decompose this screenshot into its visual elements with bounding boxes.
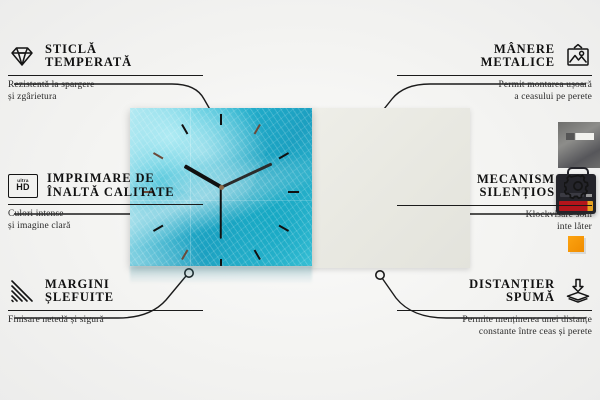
feature-title: DISTANȚIER SPUMĂ bbox=[469, 278, 555, 305]
ultra-hd-icon-main: HD bbox=[16, 183, 29, 192]
divider bbox=[8, 204, 203, 205]
foam-spacer-icon bbox=[564, 277, 592, 305]
picture-frame-hanger-icon bbox=[564, 42, 592, 70]
center-pin bbox=[219, 185, 224, 190]
divider bbox=[397, 75, 592, 76]
feature-tempered-glass: STICLĂ TEMPERATĂ Rezistentă la spargere … bbox=[8, 42, 203, 103]
divider bbox=[8, 75, 203, 76]
leader-endpoint-6 bbox=[376, 271, 384, 279]
feature-foam-spacer: DISTANȚIER SPUMĂ Permite menținerea unei… bbox=[397, 277, 592, 338]
feature-silent-mechanism: MECANISM SILENȚIOS Klockvisare som inte … bbox=[397, 172, 592, 233]
feature-description: Culori intense și imagine clară bbox=[8, 209, 203, 232]
feature-polished-edges: MARGINI ȘLEFUITE Finisare netedă și sigu… bbox=[8, 277, 203, 327]
feature-description: Rezistentă la spargere și zgârietura bbox=[8, 80, 203, 103]
feature-heading: MARGINI ȘLEFUITE bbox=[8, 277, 203, 305]
ultra-hd-icon: ultra HD bbox=[8, 174, 38, 198]
feature-description: Finisare netedă și sigură bbox=[8, 315, 203, 327]
feature-heading: MÂNERE METALICE bbox=[397, 42, 592, 70]
divider bbox=[8, 310, 203, 311]
diamond-icon bbox=[8, 42, 36, 70]
feature-description: Permit montarea ușoară a ceasului pe per… bbox=[397, 80, 592, 103]
infographic-canvas: STICLĂ TEMPERATĂ Rezistentă la spargere … bbox=[0, 0, 600, 400]
divider bbox=[397, 310, 592, 311]
feature-heading: ultra HD IMPRIMARE DE ÎNALTĂ CALITATE bbox=[8, 172, 203, 199]
feature-title: IMPRIMARE DE ÎNALTĂ CALITATE bbox=[47, 172, 175, 199]
divider bbox=[397, 205, 592, 206]
feature-title: STICLĂ TEMPERATĂ bbox=[45, 43, 132, 70]
feature-title: MÂNERE METALICE bbox=[481, 43, 555, 70]
foam-spacer bbox=[568, 236, 584, 252]
polished-edge-icon bbox=[8, 277, 36, 305]
feature-title: MARGINI ȘLEFUITE bbox=[45, 278, 114, 305]
feature-heading: DISTANȚIER SPUMĂ bbox=[397, 277, 592, 305]
second-hand bbox=[220, 187, 222, 239]
metal-hanger bbox=[558, 122, 600, 168]
feature-high-quality-print: ultra HD IMPRIMARE DE ÎNALTĂ CALITATE Cu… bbox=[8, 172, 203, 232]
feature-heading: MECANISM SILENȚIOS bbox=[397, 172, 592, 200]
feature-metal-handles: MÂNERE METALICE Permit montarea ușoară a… bbox=[397, 42, 592, 103]
feature-description: Permite menținerea unei distanțe constan… bbox=[397, 315, 592, 338]
gear-icon bbox=[564, 172, 592, 200]
feature-title: MECANISM SILENȚIOS bbox=[477, 173, 555, 200]
feature-description: Klockvisare som inte låter bbox=[397, 210, 592, 233]
feature-heading: STICLĂ TEMPERATĂ bbox=[8, 42, 203, 70]
